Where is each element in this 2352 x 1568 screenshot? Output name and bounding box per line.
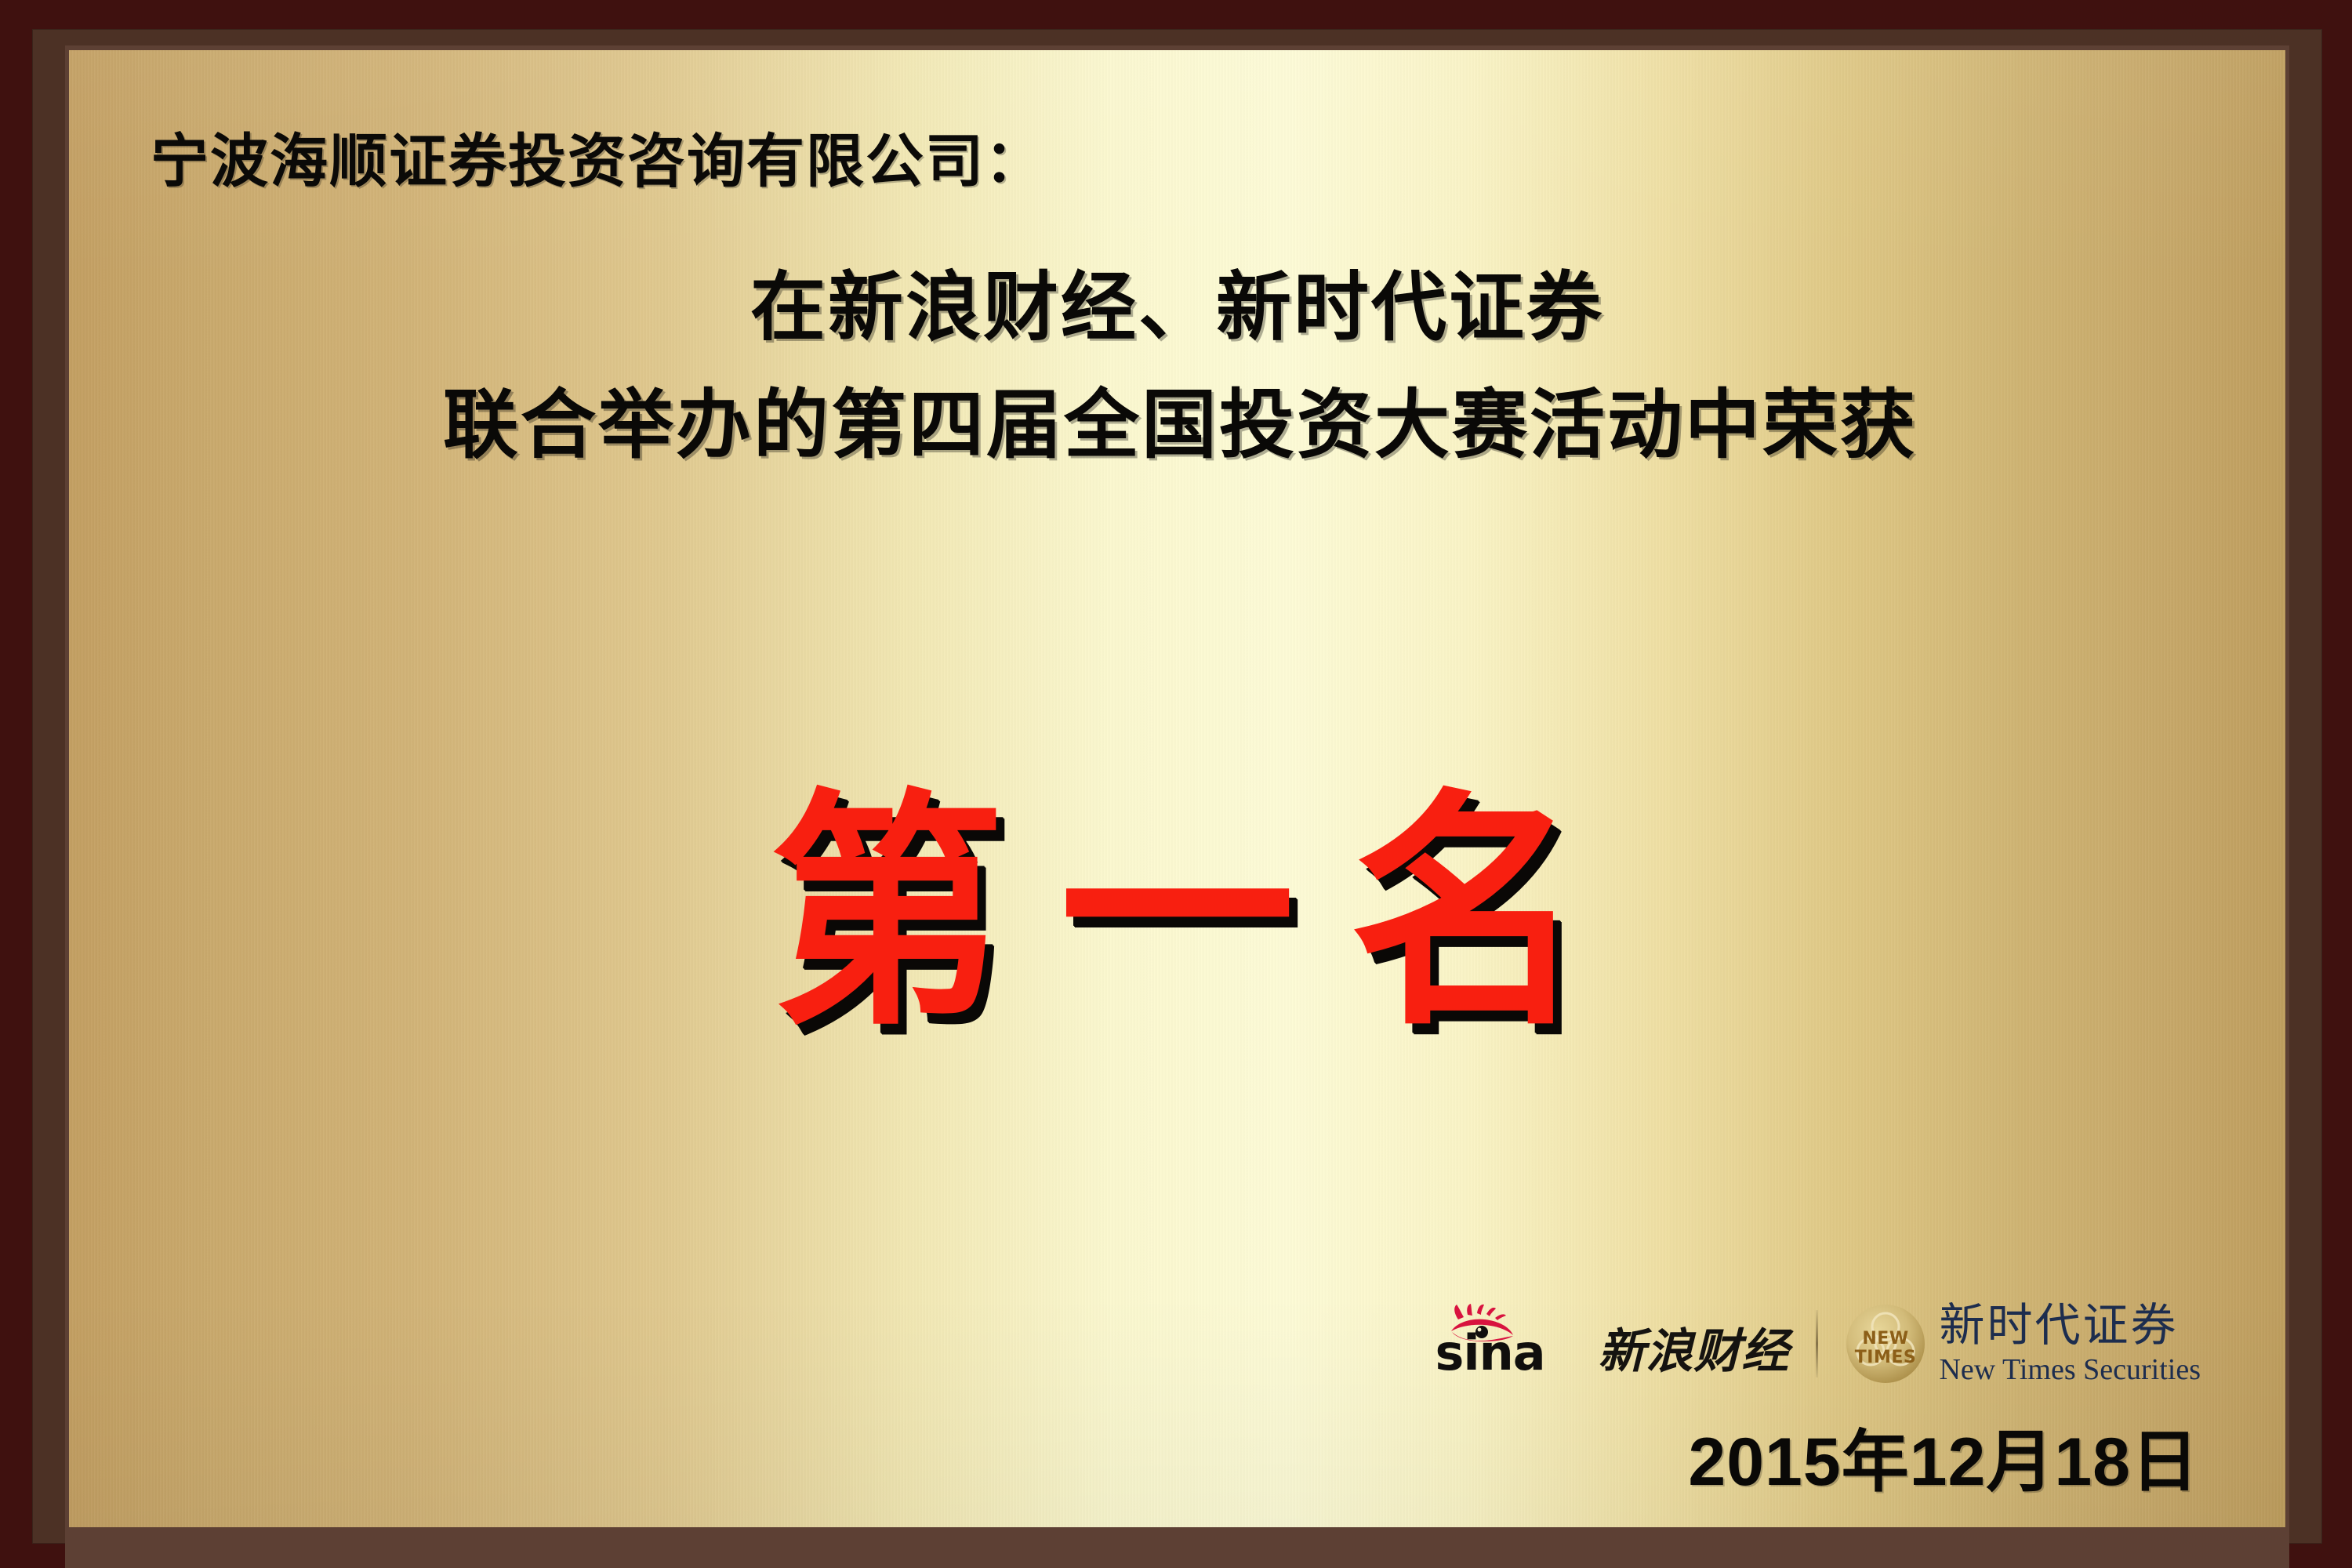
citation-line-2: 联合举办的第四届全国投资大赛活动中荣获 — [69, 367, 2285, 485]
sponsor-logos: sina 新浪财经 — [1435, 1303, 2201, 1385]
citation-line-1: 在新浪财经、新时代证券 — [69, 249, 2285, 367]
svg-text:TIMES: TIMES — [1855, 1348, 1916, 1367]
award-date: 2015年12月18日 — [1688, 1406, 2199, 1504]
svg-text:NEW: NEW — [1863, 1329, 1909, 1348]
citation-body: 在新浪财经、新时代证券 联合举办的第四届全国投资大赛活动中荣获 — [69, 249, 2285, 485]
sina-wordmark: sina — [1435, 1307, 1588, 1381]
plaque-content: 宁波海顺证券投资咨询有限公司： 在新浪财经、新时代证券 联合举办的第四届全国投资… — [69, 50, 2285, 1527]
award-rank-title: 第一名 — [715, 771, 1640, 1054]
new-times-nameplate: 新时代证券 New Times Securities — [1939, 1303, 2201, 1385]
sina-chinese-name: 新浪财经 — [1598, 1326, 1789, 1381]
new-times-chinese-name: 新时代证券 — [1939, 1303, 2201, 1348]
new-times-emblem-svg: NEW TIMES — [1845, 1303, 1926, 1385]
new-times-emblem-icon: NEW TIMES — [1845, 1303, 1926, 1385]
gold-plaque-surface: 宁波海顺证券投资咨询有限公司： 在新浪财经、新时代证券 联合举办的第四届全国投资… — [69, 50, 2285, 1527]
new-times-english-name: New Times Securities — [1939, 1355, 2201, 1385]
recipient-company-name: 宁波海顺证券投资咨询有限公司： — [151, 114, 1044, 198]
award-title-block: 第一名 — [69, 779, 2285, 1093]
logo-separator — [1816, 1310, 1818, 1377]
new-times-securities-logo: NEW TIMES 新时代证券 New Times Securities — [1845, 1303, 2201, 1385]
sina-finance-logo: sina 新浪财经 — [1435, 1307, 1789, 1381]
award-plaque-image: 宁波海顺证券投资咨询有限公司： 在新浪财经、新时代证券 联合举办的第四届全国投资… — [0, 0, 2352, 1568]
sina-latin-wordmark: sina — [1435, 1329, 1544, 1377]
